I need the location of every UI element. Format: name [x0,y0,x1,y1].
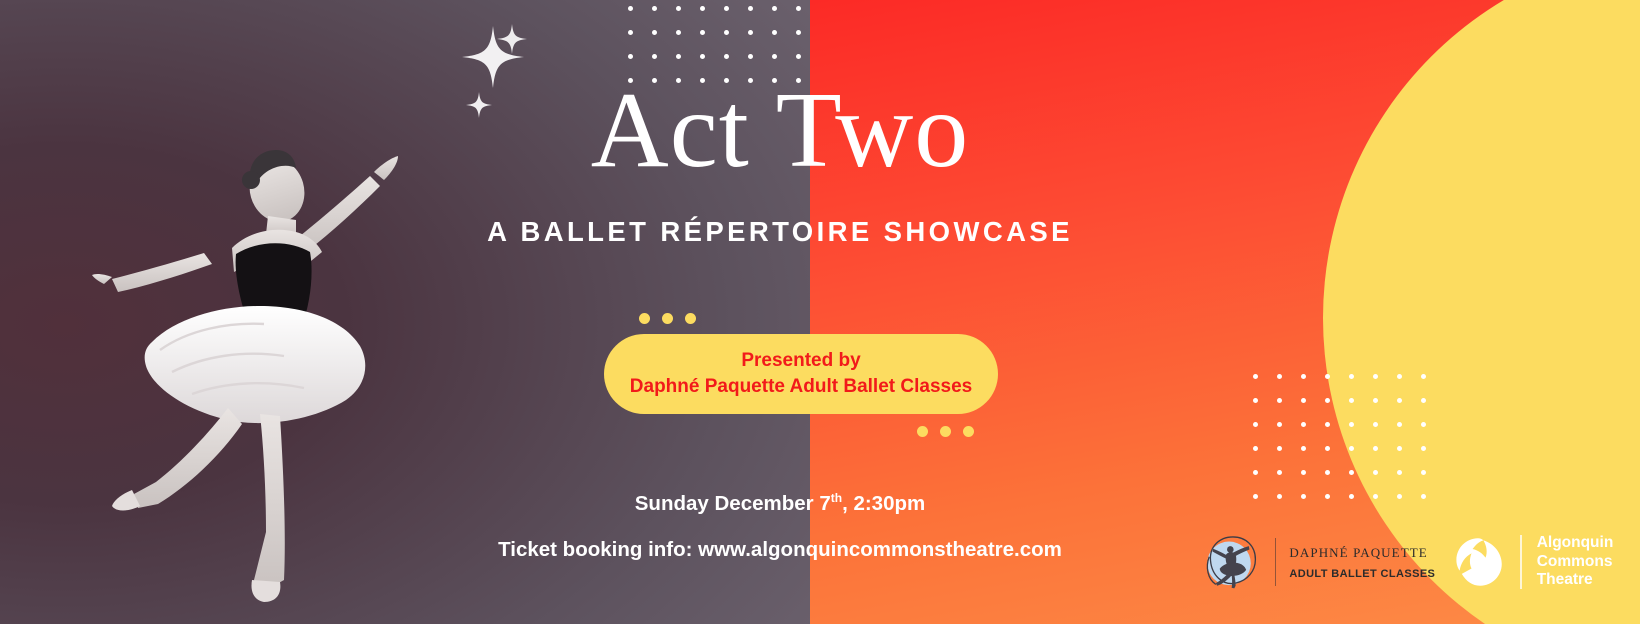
grid-dot [1301,374,1306,379]
grid-dot [1421,446,1426,451]
venue-logo[interactable]: Algonquin Commons Theatre [1451,534,1613,591]
grid-dot [1325,374,1330,379]
venue-logo-text: Algonquin Commons Theatre [1537,534,1614,591]
grid-dot [1301,446,1306,451]
grid-dot [748,6,753,11]
dot-grid-top [628,6,808,68]
event-date-prefix: Sunday December 7 [635,492,831,515]
grid-dot [1373,398,1378,403]
grid-dot [1253,494,1258,499]
subtitle: A BALLET RÉPERTOIRE SHOWCASE [430,216,1130,248]
grid-dot [1253,398,1258,403]
grid-dot [1349,446,1354,451]
grid-dot [1421,422,1426,427]
grid-dot [1325,398,1330,403]
grid-dot [676,30,681,35]
grid-dot [1373,374,1378,379]
grid-dot [676,54,681,59]
grid-dot [1373,446,1378,451]
grid-dot [676,6,681,11]
presenter-logo-name: DAPHNÉ PAQUETTE [1289,545,1435,561]
logo-divider-left [1275,538,1276,586]
grid-dot [796,54,801,59]
grid-dot [1397,374,1402,379]
grid-dot [1277,446,1282,451]
grid-dot [1277,470,1282,475]
accent-dots-top [639,313,696,324]
grid-dot [1397,422,1402,427]
ballerina-circle-icon [1196,529,1262,595]
grid-dot [1301,470,1306,475]
presenter-badge: Presented by Daphné Paquette Adult Balle… [604,334,998,414]
grid-dot [1349,422,1354,427]
presenter-name: Daphné Paquette Adult Ballet Classes [630,374,972,400]
grid-dot [700,6,705,11]
ballerina-photo [52,128,432,606]
grid-dot [724,54,729,59]
grid-dot [1421,470,1426,475]
grid-dot [1373,494,1378,499]
grid-dot [1253,422,1258,427]
grid-dot [1349,398,1354,403]
grid-dot [724,6,729,11]
grid-dot [1253,470,1258,475]
grid-dot [1325,494,1330,499]
algonquin-swirl-icon [1451,535,1505,589]
event-banner: Act Two A BALLET RÉPERTOIRE SHOWCASE Pre… [0,0,1640,624]
grid-dot [1301,494,1306,499]
grid-dot [1397,398,1402,403]
grid-dot [796,30,801,35]
presenter-logo[interactable]: DAPHNÉ PAQUETTE ADULT BALLET CLASSES [1196,529,1435,595]
venue-line-2: Commons [1537,553,1614,572]
page-title: Act Two [430,76,1130,186]
grid-dot [1325,470,1330,475]
grid-dot [1421,494,1426,499]
ticket-booking-info[interactable]: Ticket booking info: www.algonquincommon… [380,538,1180,562]
grid-dot [1277,494,1282,499]
grid-dot [1349,470,1354,475]
grid-dot [1253,374,1258,379]
venue-line-1: Algonquin [1537,534,1614,553]
grid-dot [1325,446,1330,451]
grid-dot [1277,398,1282,403]
grid-dot [628,6,633,11]
grid-dot [1397,446,1402,451]
grid-dot [1421,398,1426,403]
grid-dot [1325,422,1330,427]
logo-strip: DAPHNÉ PAQUETTE ADULT BALLET CLASSES Alg… [1196,523,1613,601]
grid-dot [1253,446,1258,451]
grid-dot [772,6,777,11]
grid-dot [796,6,801,11]
event-date-suffix: , 2:30pm [842,492,925,515]
grid-dot [1349,374,1354,379]
grid-dot [628,54,633,59]
grid-dot [1277,422,1282,427]
grid-dot [1373,422,1378,427]
grid-dot [1373,470,1378,475]
accent-dots-bottom [917,426,974,437]
presented-by-label: Presented by [741,348,860,374]
grid-dot [724,30,729,35]
grid-dot [652,30,657,35]
grid-dot [748,54,753,59]
grid-dot [1397,494,1402,499]
grid-dot [1421,374,1426,379]
grid-dot [700,54,705,59]
sparkle-medium-icon [497,24,527,54]
grid-dot [1301,422,1306,427]
logo-divider-right [1520,535,1521,589]
presenter-logo-tagline: ADULT BALLET CLASSES [1289,568,1435,580]
event-date: Sunday December 7th, 2:30pm [430,491,1130,516]
grid-dot [652,54,657,59]
event-date-ordinal: th [831,491,842,505]
grid-dot [1349,494,1354,499]
grid-dot [772,30,777,35]
grid-dot [1301,398,1306,403]
grid-dot [1277,374,1282,379]
grid-dot [700,30,705,35]
grid-dot [628,30,633,35]
venue-line-3: Theatre [1537,571,1614,590]
dot-grid-bottom [1253,374,1433,480]
grid-dot [652,6,657,11]
grid-dot [748,30,753,35]
grid-dot [1397,470,1402,475]
grid-dot [772,54,777,59]
